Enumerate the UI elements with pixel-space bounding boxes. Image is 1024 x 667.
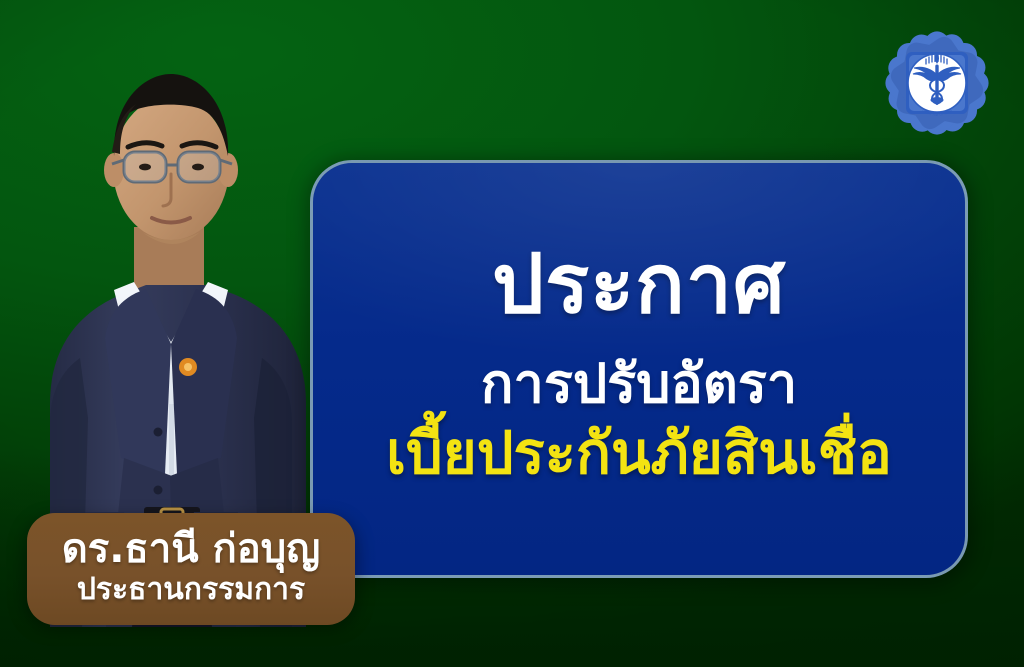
thai-ministry-emblem-icon: กรมการค้าภายใน xyxy=(882,28,992,138)
announcement-title: ประกาศ xyxy=(492,242,786,328)
announcement-highlight-text: เบี้ยประกันภัยสินเชื่อ xyxy=(386,421,892,486)
announcement-panel: ประกาศ การปรับอัตรา เบี้ยประกันภัยสินเชื… xyxy=(310,160,968,578)
person-name: ดร.ธานี ก่อบุญ xyxy=(62,527,321,571)
announcement-banner: กรมการค้าภายใน ประกาศ การปรับอัตรา เบี้ย… xyxy=(0,0,1024,667)
name-badge: ดร.ธานี ก่อบุญ ประธานกรรมการ xyxy=(27,513,355,625)
announcement-subtitle: การปรับอัตรา xyxy=(481,354,797,414)
person-role: ประธานกรรมการ xyxy=(77,573,305,608)
